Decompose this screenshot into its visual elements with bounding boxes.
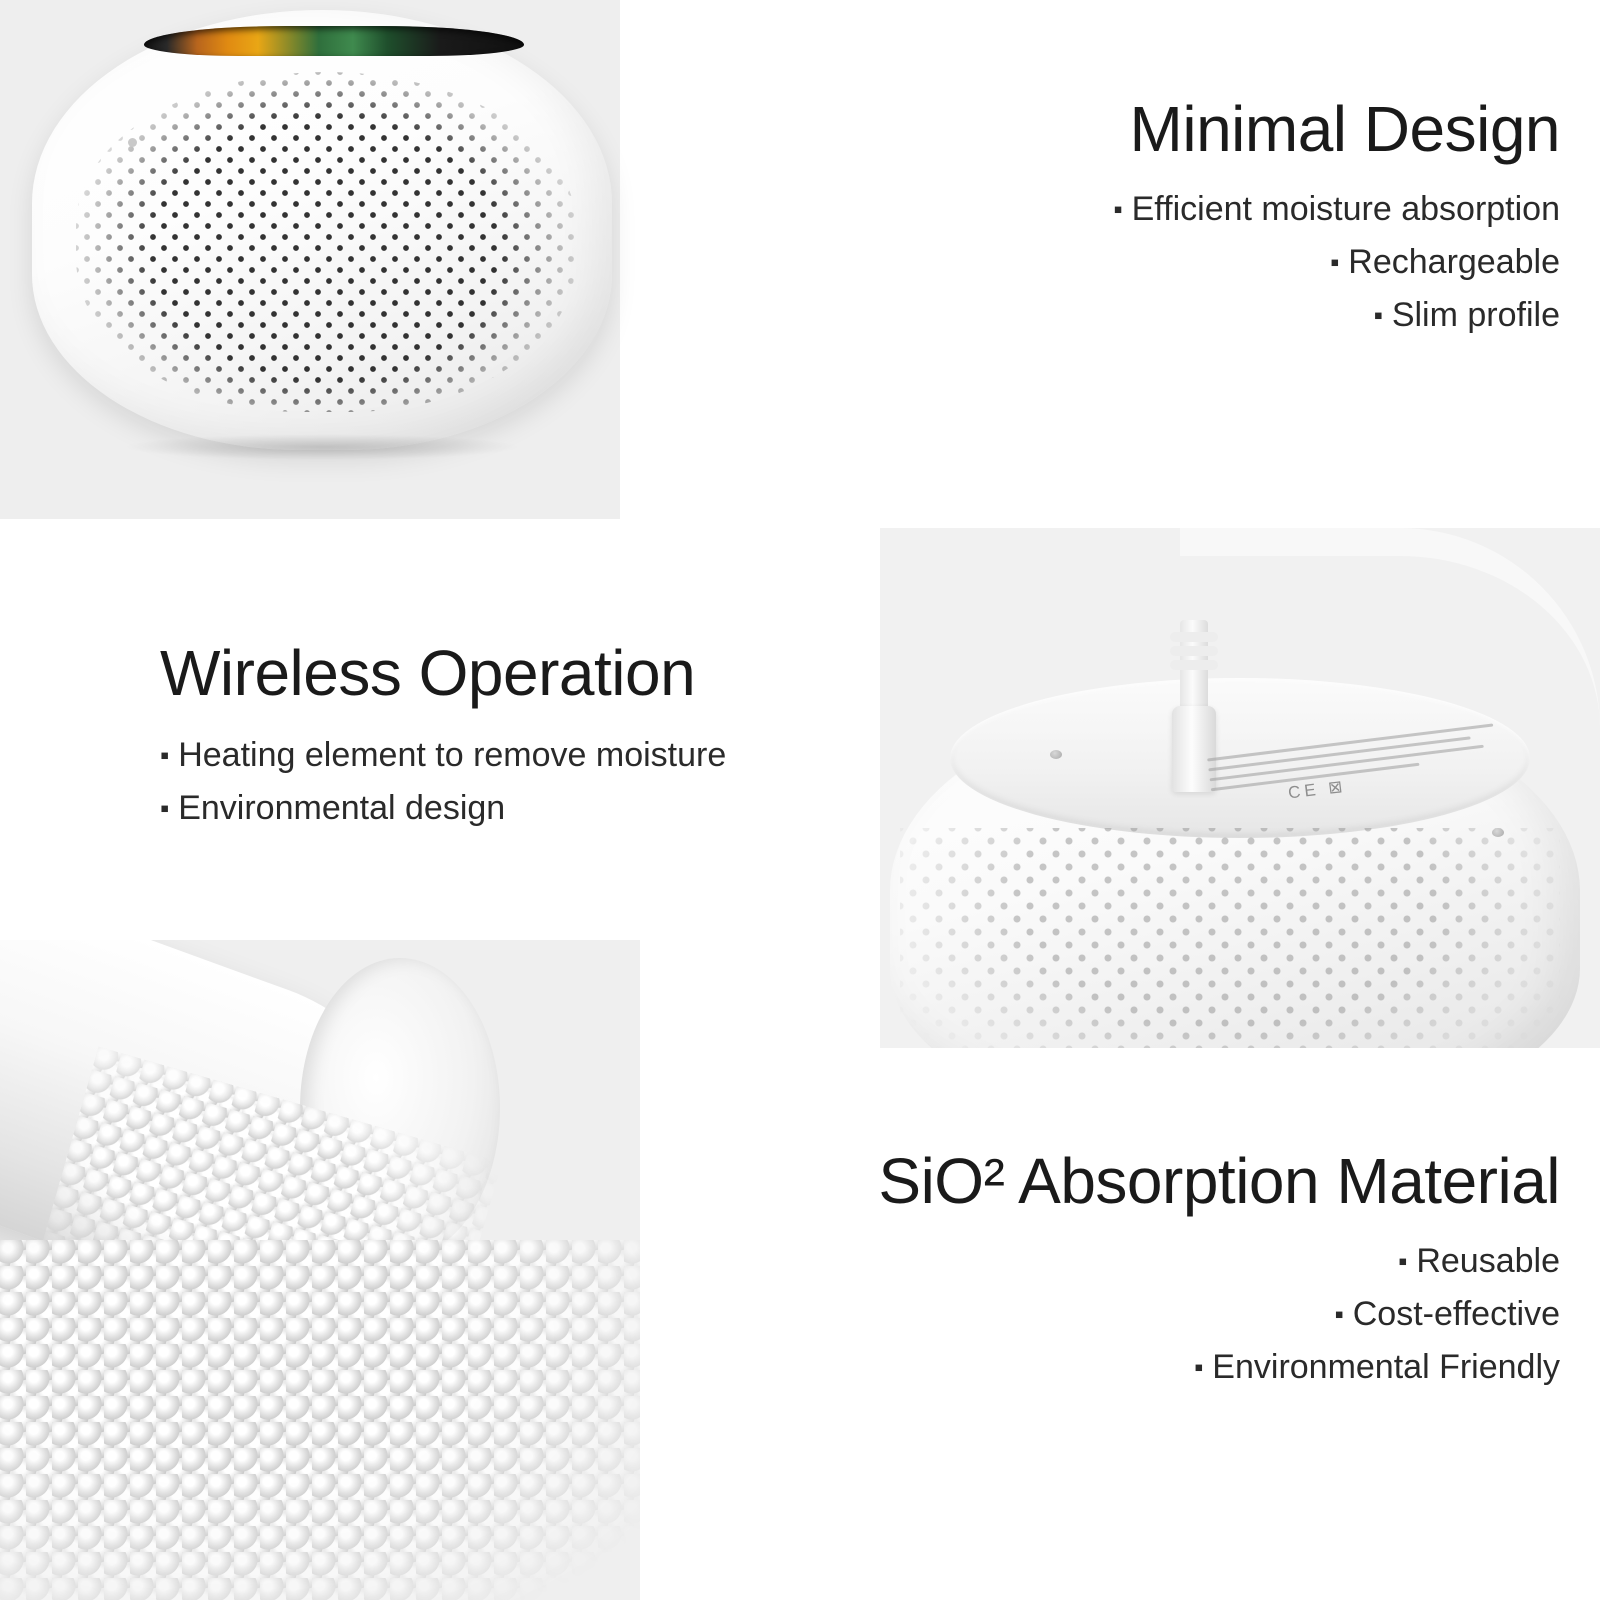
bullet-text: Rechargeable [1348, 243, 1560, 281]
bullet-text: Cost-effective [1353, 1295, 1560, 1333]
bullet-mark-icon: ▪ [1330, 242, 1339, 282]
bullet-item: ▪Slim profile [1113, 289, 1560, 342]
charging-cable [1180, 528, 1600, 728]
product-feature-infographic: White perforated mini dehumidifier front… [0, 0, 1600, 1600]
text-block-sio2-absorption-material: SiO² Absorption Material ▪Reusable ▪Cost… [878, 1148, 1560, 1393]
headline-minimal-design: Minimal Design [1113, 96, 1560, 163]
screw-icon [1492, 828, 1504, 837]
screw-icon [1050, 750, 1062, 759]
bullet-mark-icon: ▪ [1335, 1294, 1344, 1334]
bullet-text: Slim profile [1392, 296, 1560, 334]
bullet-mark-icon: ▪ [1113, 189, 1122, 229]
bullet-text: Environmental design [178, 789, 505, 827]
device-perforation-pattern [76, 72, 576, 412]
device-perforation-pattern [900, 828, 1560, 1048]
bullet-mark-icon: ▪ [160, 735, 169, 775]
bullet-text: Environmental Friendly [1212, 1348, 1560, 1386]
image-device-front: White perforated mini dehumidifier front… [32, 10, 612, 460]
bullet-item: ▪Environmental design [160, 782, 726, 835]
bullet-text: Efficient moisture absorption [1132, 190, 1560, 228]
silica-beads-pile [0, 1240, 640, 1600]
bullet-mark-icon: ▪ [1398, 1241, 1407, 1281]
bullet-item: ▪Rechargeable [1113, 236, 1560, 289]
image-device-with-cable: CE ⊠ Dehumidifier top view with white ch… [880, 528, 1600, 1048]
bullet-mark-icon: ▪ [1194, 1347, 1203, 1387]
bullet-item: ▪Environmental Friendly [878, 1341, 1560, 1394]
bullet-mark-icon: ▪ [1374, 295, 1383, 335]
text-block-minimal-design: Minimal Design ▪Efficient moisture absor… [1113, 96, 1560, 341]
bullet-item: ▪Efficient moisture absorption [1113, 183, 1560, 236]
cable-strain-relief-rings [1170, 632, 1218, 642]
bullet-item: ▪Cost-effective [878, 1288, 1560, 1341]
bullet-item: ▪Reusable [878, 1235, 1560, 1288]
bullet-text: Reusable [1416, 1242, 1560, 1280]
bullet-item: ▪Heating element to remove moisture [160, 729, 726, 782]
bullet-list-wireless-operation: ▪Heating element to remove moisture ▪Env… [160, 729, 726, 834]
bullet-mark-icon: ▪ [160, 788, 169, 828]
bullet-list-sio2: ▪Reusable ▪Cost-effective ▪Environmental… [878, 1235, 1560, 1393]
headline-sio2-absorption-material: SiO² Absorption Material [878, 1148, 1560, 1215]
device-drop-shadow [122, 434, 522, 460]
text-block-wireless-operation: Wireless Operation ▪Heating element to r… [160, 640, 726, 835]
device-led-icon [128, 138, 137, 147]
bullet-list-minimal-design: ▪Efficient moisture absorption ▪Recharge… [1113, 183, 1560, 341]
headline-wireless-operation: Wireless Operation [160, 640, 726, 707]
bullet-text: Heating element to remove moisture [178, 736, 726, 774]
image-silica-beads: Tipped white jar spilling clear silica g… [0, 940, 640, 1600]
device-indicator-strip [144, 26, 524, 56]
